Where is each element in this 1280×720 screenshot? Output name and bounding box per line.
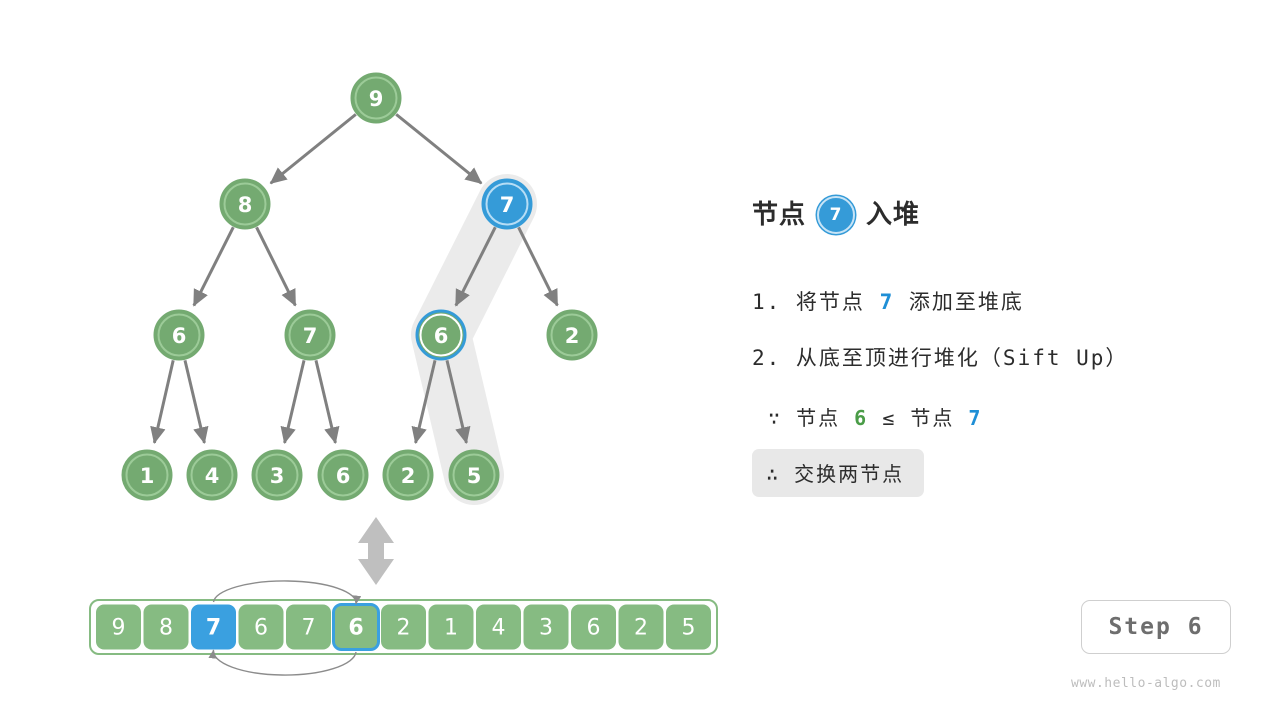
step-badge: Step 6 xyxy=(1081,600,1231,654)
array-cell: 2 xyxy=(619,605,664,650)
svg-text:2: 2 xyxy=(401,464,416,488)
array-cell: 6 xyxy=(239,605,284,650)
array-cell: 4 xyxy=(476,605,521,650)
panel-title-prefix: 节点 xyxy=(752,202,806,228)
because-value-2: 7 xyxy=(968,406,982,430)
svg-text:7: 7 xyxy=(303,324,318,348)
tree-node-5: 5 xyxy=(450,451,498,499)
svg-text:6: 6 xyxy=(587,616,601,641)
tree-node-1: 1 xyxy=(123,451,171,499)
panel-title-suffix: 入堆 xyxy=(866,202,920,228)
tree-node-group: 9876762143625 xyxy=(123,74,596,499)
therefore-highlight-box: ∴ 交换两节点 xyxy=(752,449,924,497)
tree-node-4: 4 xyxy=(188,451,236,499)
tree-node-2: 2 xyxy=(384,451,432,499)
explanation-panel: 节点 7 入堆 1. 将节点 7 添加至堆底 2. 从底至顶进行堆化（Sift … xyxy=(752,196,1252,497)
tree-node-7: 7 xyxy=(483,180,531,228)
therefore-text: 交换两节点 xyxy=(794,462,904,486)
panel-title-node-badge: 7 xyxy=(817,196,855,234)
svg-text:6: 6 xyxy=(254,616,268,641)
svg-text:9: 9 xyxy=(369,87,384,111)
svg-text:4: 4 xyxy=(492,616,506,641)
because-operator: ≤ xyxy=(882,406,896,430)
svg-text:5: 5 xyxy=(682,616,696,641)
because-value-1: 6 xyxy=(854,406,868,430)
tree-node-3: 3 xyxy=(253,451,301,499)
panel-therefore-line: ∴ 交换两节点 xyxy=(766,462,904,486)
tree-array-link-arrow xyxy=(358,517,394,585)
therefore-symbol: ∴ xyxy=(766,462,780,486)
svg-text:7: 7 xyxy=(500,193,515,217)
array-cell: 1 xyxy=(429,605,474,650)
tree-node-2: 2 xyxy=(548,311,596,359)
svg-text:2: 2 xyxy=(565,324,580,348)
array-cell: 8 xyxy=(144,605,189,650)
svg-text:5: 5 xyxy=(467,464,482,488)
because-text-b: 节点 xyxy=(910,406,954,430)
tree-node-6: 6 xyxy=(319,451,367,499)
svg-text:8: 8 xyxy=(238,193,253,217)
panel-because-line: ∵ 节点 6 ≤ 节点 7 xyxy=(768,402,1252,431)
because-text-a: 节点 xyxy=(796,406,840,430)
svg-text:3: 3 xyxy=(270,464,285,488)
tree-node-6: 6 xyxy=(155,311,203,359)
svg-text:2: 2 xyxy=(634,616,648,641)
step-1-value: 7 xyxy=(880,290,895,314)
panel-title: 节点 7 入堆 xyxy=(752,196,1252,234)
because-symbol: ∵ xyxy=(768,406,782,430)
array-representation: 9876762143625 xyxy=(90,600,717,654)
svg-text:1: 1 xyxy=(444,616,458,641)
tree-node-8: 8 xyxy=(221,180,269,228)
svg-text:6: 6 xyxy=(348,616,363,641)
svg-text:6: 6 xyxy=(434,324,449,348)
svg-text:1: 1 xyxy=(140,464,155,488)
array-cell: 7 xyxy=(191,605,236,650)
watermark: www.hello-algo.com xyxy=(1071,676,1221,691)
svg-text:4: 4 xyxy=(205,464,220,488)
svg-text:6: 6 xyxy=(172,324,187,348)
diagram-canvas: 9876762143625 9876762143625 节点 7 入堆 1. 将… xyxy=(0,0,1280,720)
panel-step-1: 1. 将节点 7 添加至堆底 xyxy=(752,286,1252,316)
array-cell: 2 xyxy=(381,605,426,650)
array-cell: 3 xyxy=(524,605,569,650)
tree-node-9: 9 xyxy=(352,74,400,122)
svg-text:2: 2 xyxy=(397,616,411,641)
svg-text:8: 8 xyxy=(159,616,173,641)
array-cell: 6 xyxy=(334,605,379,650)
svg-text:9: 9 xyxy=(112,616,126,641)
svg-text:6: 6 xyxy=(336,464,351,488)
svg-text:3: 3 xyxy=(539,616,553,641)
array-cell: 9 xyxy=(96,605,141,650)
step-1-text-a: 1. 将节点 xyxy=(752,290,865,314)
step-1-text-b: 添加至堆底 xyxy=(909,290,1024,314)
svg-text:7: 7 xyxy=(302,616,316,641)
tree-node-6: 6 xyxy=(417,311,465,359)
array-cell: 5 xyxy=(666,605,711,650)
array-cell: 6 xyxy=(571,605,616,650)
array-cell: 7 xyxy=(286,605,331,650)
tree-node-7: 7 xyxy=(286,311,334,359)
svg-text:7: 7 xyxy=(206,616,221,641)
panel-step-2: 2. 从底至顶进行堆化（Sift Up） xyxy=(752,342,1252,372)
